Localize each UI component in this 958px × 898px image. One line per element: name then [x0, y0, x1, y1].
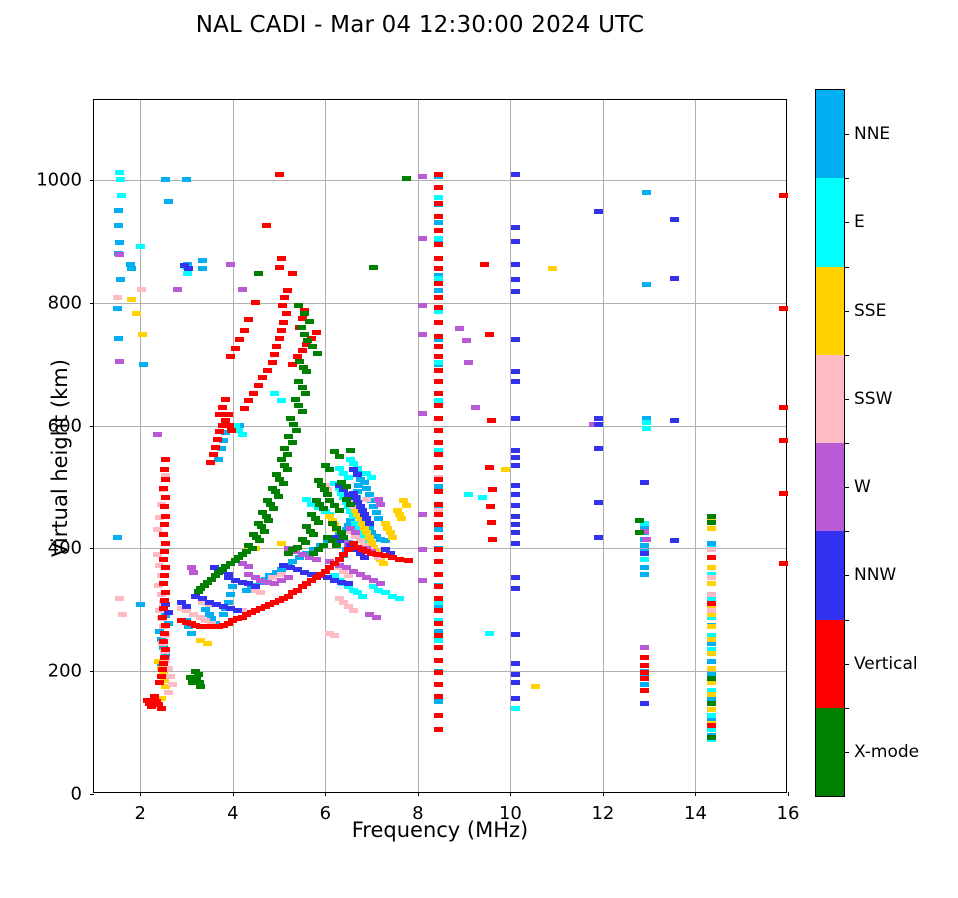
scatter-point	[206, 460, 215, 465]
scatter-point	[198, 266, 207, 271]
scatter-point	[511, 492, 520, 497]
scatter-point	[434, 699, 443, 704]
scatter-point	[136, 602, 145, 607]
scatter-point	[330, 561, 339, 566]
scatter-point	[214, 457, 223, 462]
scatter-point	[115, 596, 124, 601]
scatter-point	[308, 344, 317, 349]
colorbar-label-sse: SSE	[854, 301, 886, 321]
scatter-point	[339, 552, 348, 557]
scatter-point	[642, 537, 651, 542]
scatter-point	[707, 608, 716, 613]
scatter-point	[511, 541, 520, 546]
scatter-point	[160, 504, 169, 509]
scatter-point	[160, 522, 169, 527]
y-tick	[90, 303, 94, 304]
scatter-point	[113, 306, 122, 311]
scatter-point	[258, 375, 267, 380]
scatter-point	[434, 682, 443, 687]
scatter-point	[402, 503, 411, 508]
scatter-point	[434, 320, 443, 325]
scatter-point	[511, 503, 520, 508]
colorbar-label-w: W	[854, 477, 871, 497]
scatter-point	[594, 535, 603, 540]
scatter-point	[707, 659, 716, 664]
scatter-point	[244, 564, 253, 569]
scatter-point	[434, 559, 443, 564]
scatter-point	[209, 452, 218, 457]
scatter-point	[325, 467, 334, 472]
scatter-point	[511, 483, 520, 488]
scatter-point	[289, 422, 298, 427]
scatter-point	[301, 540, 310, 545]
scatter-point	[275, 336, 284, 341]
colorbar-boundary-tick	[844, 620, 849, 621]
scatter-point	[302, 369, 311, 374]
scatter-point	[161, 495, 170, 500]
colorbar-label-vertical: Vertical	[854, 654, 918, 674]
colorbar-segment-ssw	[816, 355, 844, 443]
colorbar-tick	[844, 664, 849, 665]
scatter-point	[707, 651, 716, 656]
scatter-point	[434, 281, 443, 286]
scatter-point	[291, 397, 300, 402]
scatter-point	[404, 558, 413, 563]
scatter-point	[434, 502, 443, 507]
scatter-point	[303, 338, 312, 343]
scatter-point	[434, 638, 443, 643]
x-axis-title: Frequency (MHz)	[93, 818, 787, 842]
scatter-point	[270, 391, 279, 396]
scatter-point	[346, 502, 355, 507]
scatter-point	[297, 325, 306, 330]
scatter-point	[707, 637, 716, 642]
scatter-point	[434, 288, 443, 293]
scatter-point	[215, 429, 224, 434]
scatter-point	[188, 680, 197, 685]
scatter-point	[255, 538, 264, 543]
scatter-point	[434, 512, 443, 517]
colorbar-tick	[844, 752, 849, 753]
scatter-point	[254, 383, 263, 388]
scatter-point	[279, 481, 288, 486]
scatter-point	[277, 328, 286, 333]
scatter-point	[418, 578, 427, 583]
scatter-point	[707, 581, 716, 586]
scatter-point	[159, 639, 168, 644]
scatter-point	[779, 561, 788, 566]
x-tick	[603, 792, 604, 796]
scatter-point	[488, 487, 497, 492]
scatter-point	[511, 463, 520, 468]
scatter-point	[434, 266, 443, 271]
colorbar-tick	[844, 487, 849, 488]
scatter-point	[332, 543, 341, 548]
colorbar-boundary-tick	[844, 355, 849, 356]
colorbar-label-e: E	[854, 212, 865, 232]
scatter-point	[511, 514, 520, 519]
colorbar-segment-nnw	[816, 531, 844, 619]
scatter-point	[161, 541, 170, 546]
scatter-point	[211, 445, 220, 450]
scatter-point	[511, 522, 520, 527]
scatter-point	[511, 672, 520, 677]
scatter-point	[244, 317, 253, 322]
scatter-point	[511, 586, 520, 591]
scatter-point	[434, 242, 443, 247]
scatter-point	[485, 631, 494, 636]
colorbar-title-wrap: Azimuth Direction	[898, 263, 938, 623]
scatter-point	[642, 420, 651, 425]
scatter-point	[640, 670, 649, 675]
scatter-point	[221, 397, 230, 402]
scatter-point	[594, 446, 603, 451]
scatter-point	[283, 467, 292, 472]
scatter-point	[434, 694, 443, 699]
scatter-point	[434, 713, 443, 718]
scatter-point	[161, 514, 170, 519]
scatter-point	[249, 391, 258, 396]
colorbar-boundary-tick	[844, 178, 849, 179]
scatter-point	[113, 535, 122, 540]
scatter-point	[434, 633, 443, 638]
scatter-point	[511, 455, 520, 460]
scatter-point	[779, 491, 788, 496]
scatter-point	[344, 573, 353, 578]
scatter-point	[136, 244, 145, 249]
scatter-point	[270, 352, 279, 357]
scatter-point	[418, 332, 427, 337]
scatter-point	[640, 682, 649, 687]
scatter-point	[132, 311, 141, 316]
scatter-point	[707, 692, 716, 697]
scatter-point	[226, 262, 235, 267]
scatter-point	[161, 177, 170, 182]
scatter-point	[275, 265, 284, 270]
scatter-point	[277, 398, 286, 403]
scatter-point	[353, 472, 362, 477]
scatter-point	[642, 282, 651, 287]
scatter-point	[275, 172, 284, 177]
scatter-point	[642, 426, 651, 431]
scatter-point	[362, 497, 371, 502]
scatter-point	[434, 727, 443, 732]
scatter-point	[138, 332, 147, 337]
y-tick	[90, 794, 94, 795]
scatter-point	[358, 594, 367, 599]
scatter-point	[294, 403, 303, 408]
scatter-point	[279, 320, 288, 325]
scatter-point	[155, 680, 164, 685]
scatter-point	[339, 535, 348, 540]
scatter-point	[434, 535, 443, 540]
scatter-point	[707, 555, 716, 560]
scatter-point	[511, 379, 520, 384]
scatter-point	[548, 266, 557, 271]
scatter-point	[159, 661, 168, 666]
scatter-point	[113, 295, 122, 300]
scatter-point	[115, 170, 124, 175]
scatter-point	[434, 452, 443, 457]
scatter-point	[434, 185, 443, 190]
scatter-point	[164, 199, 173, 204]
scatter-point	[226, 592, 235, 597]
scatter-point	[642, 190, 651, 195]
y-tick	[90, 180, 94, 181]
ionogram-figure: NAL CADI - Mar 04 12:30:00 2024 UTC 2468…	[0, 0, 958, 857]
scatter-point	[115, 359, 124, 364]
scatter-point	[238, 432, 247, 437]
scatter-point	[189, 570, 198, 575]
scatter-point	[434, 172, 443, 177]
scatter-point	[388, 535, 397, 540]
scatter-point	[159, 532, 168, 537]
scatter-point	[161, 647, 170, 652]
scatter-point	[434, 440, 443, 445]
scatter-point	[434, 477, 443, 482]
scatter-layer	[94, 100, 786, 792]
scatter-point	[240, 406, 249, 411]
scatter-point	[434, 305, 443, 310]
scatter-point	[487, 520, 496, 525]
scatter-point	[707, 526, 716, 531]
scatter-point	[485, 332, 494, 337]
x-tick	[695, 792, 696, 796]
scatter-point	[157, 674, 166, 679]
scatter-point	[335, 557, 344, 562]
scatter-point	[397, 516, 406, 521]
scatter-point	[283, 288, 292, 293]
y-tick-label: 0	[71, 784, 82, 805]
scatter-point	[640, 701, 649, 706]
scatter-point	[213, 437, 222, 442]
scatter-point	[168, 682, 177, 687]
scatter-point	[434, 368, 443, 373]
scatter-point	[372, 615, 381, 620]
scatter-point	[471, 405, 480, 410]
scatter-point	[640, 572, 649, 577]
scatter-point	[160, 549, 169, 554]
scatter-point	[187, 631, 196, 636]
scatter-point	[231, 346, 240, 351]
scatter-point	[670, 538, 679, 543]
scatter-point	[282, 311, 291, 316]
scatter-point	[511, 289, 520, 294]
scatter-point	[159, 606, 168, 611]
scatter-point	[349, 608, 358, 613]
scatter-point	[707, 520, 716, 525]
scatter-point	[434, 645, 443, 650]
scatter-point	[376, 581, 385, 586]
colorbar-segment-x-mode	[816, 708, 844, 796]
colorbar-segment-e	[816, 178, 844, 266]
scatter-point	[301, 391, 310, 396]
scatter-point	[707, 592, 716, 597]
scatter-point	[342, 484, 351, 489]
scatter-point	[300, 311, 309, 316]
scatter-point	[278, 303, 287, 308]
scatter-point	[418, 547, 427, 552]
scatter-point	[280, 446, 289, 451]
scatter-point	[434, 201, 443, 206]
scatter-point	[164, 690, 173, 695]
scatter-point	[284, 575, 293, 580]
scatter-point	[262, 223, 271, 228]
scatter-point	[434, 391, 443, 396]
scatter-point	[251, 300, 260, 305]
y-axis-title-wrap: Virtual height (km)	[22, 46, 62, 746]
scatter-point	[254, 271, 263, 276]
scatter-point	[309, 532, 318, 537]
x-tick	[510, 792, 511, 796]
scatter-point	[298, 348, 307, 353]
scatter-point	[511, 277, 520, 282]
scatter-point	[434, 489, 443, 494]
scatter-point	[511, 575, 520, 580]
scatter-point	[594, 500, 603, 505]
scatter-point	[511, 661, 520, 666]
scatter-point	[434, 195, 443, 200]
scatter-point	[511, 225, 520, 230]
scatter-point	[487, 418, 496, 423]
scatter-point	[418, 411, 427, 416]
scatter-point	[218, 405, 227, 410]
scatter-point	[640, 551, 649, 556]
y-tick	[90, 548, 94, 549]
scatter-point	[434, 522, 443, 527]
scatter-point	[159, 486, 168, 491]
scatter-point	[511, 416, 520, 421]
scatter-point	[127, 297, 136, 302]
scatter-point	[224, 412, 233, 417]
scatter-point	[434, 465, 443, 470]
scatter-point	[464, 492, 473, 497]
scatter-point	[402, 176, 411, 181]
scatter-point	[157, 706, 166, 711]
scatter-point	[286, 416, 295, 421]
scatter-point	[707, 735, 716, 740]
scatter-point	[284, 434, 293, 439]
scatter-point	[117, 193, 126, 198]
scatter-point	[280, 295, 289, 300]
x-tick	[418, 792, 419, 796]
scatter-point	[511, 172, 520, 177]
scatter-point	[707, 601, 716, 606]
scatter-point	[635, 518, 644, 523]
scatter-point	[116, 277, 125, 282]
scatter-point	[376, 502, 385, 507]
scatter-point	[116, 177, 125, 182]
scatter-point	[434, 658, 443, 663]
scatter-point	[305, 319, 314, 324]
scatter-point	[114, 336, 123, 341]
scatter-point	[511, 530, 520, 535]
scatter-point	[319, 506, 328, 511]
scatter-point	[182, 604, 191, 609]
scatter-point	[344, 581, 353, 586]
scatter-point	[779, 405, 788, 410]
scatter-point	[707, 676, 716, 681]
scatter-point	[707, 575, 716, 580]
scatter-point	[115, 240, 124, 245]
scatter-point	[160, 631, 169, 636]
scatter-point	[147, 704, 156, 709]
scatter-point	[434, 428, 443, 433]
scatter-point	[485, 465, 494, 470]
scatter-point	[707, 624, 716, 629]
scatter-point	[153, 432, 162, 437]
scatter-point	[240, 328, 249, 333]
scatter-point	[295, 359, 304, 364]
scatter-point	[161, 565, 170, 570]
colorbar-segment-nne	[816, 90, 844, 178]
scatter-point	[707, 723, 716, 728]
azimuth-colorbar: NNEESSESSWWNNWVerticalX-mode	[815, 89, 845, 797]
scatter-point	[274, 494, 283, 499]
scatter-point	[166, 674, 175, 679]
scatter-point	[272, 344, 281, 349]
scatter-point	[511, 680, 520, 685]
scatter-point	[158, 615, 167, 620]
scatter-point	[434, 596, 443, 601]
scatter-point	[260, 529, 269, 534]
scatter-point	[115, 252, 124, 257]
colorbar-tick	[844, 134, 849, 135]
colorbar-segment-sse	[816, 267, 844, 355]
scatter-point	[707, 547, 716, 552]
x-tick	[325, 792, 326, 796]
scatter-point	[161, 623, 170, 628]
scatter-point	[228, 584, 237, 589]
scatter-point	[114, 223, 123, 228]
scatter-point	[346, 448, 355, 453]
scatter-point	[277, 457, 286, 462]
colorbar-tick	[844, 399, 849, 400]
scatter-point	[160, 598, 169, 603]
scatter-point	[298, 409, 307, 414]
scatter-point	[351, 530, 360, 535]
scatter-point	[158, 667, 167, 672]
scatter-point	[362, 486, 371, 491]
scatter-point	[779, 438, 788, 443]
colorbar-label-nnw: NNW	[854, 565, 896, 585]
scatter-point	[137, 287, 146, 292]
scatter-point	[360, 480, 369, 485]
scatter-point	[365, 521, 374, 526]
scatter-point	[269, 506, 278, 511]
scatter-point	[344, 547, 353, 552]
scatter-point	[238, 287, 247, 292]
scatter-point	[434, 334, 443, 339]
scatter-point	[670, 276, 679, 281]
scatter-point	[434, 527, 443, 532]
scatter-point	[434, 354, 443, 359]
scatter-point	[640, 676, 649, 681]
scatter-point	[161, 590, 170, 595]
scatter-point	[160, 467, 169, 472]
scatter-point	[224, 572, 233, 577]
x-tick	[233, 792, 234, 796]
scatter-point	[284, 551, 293, 556]
scatter-point	[196, 684, 205, 689]
scatter-point	[434, 360, 443, 365]
scatter-point	[263, 368, 272, 373]
x-tick	[140, 792, 141, 796]
colorbar-boundary-tick	[844, 531, 849, 532]
scatter-point	[219, 612, 228, 617]
scatter-point	[707, 727, 716, 732]
scatter-point	[114, 208, 123, 213]
